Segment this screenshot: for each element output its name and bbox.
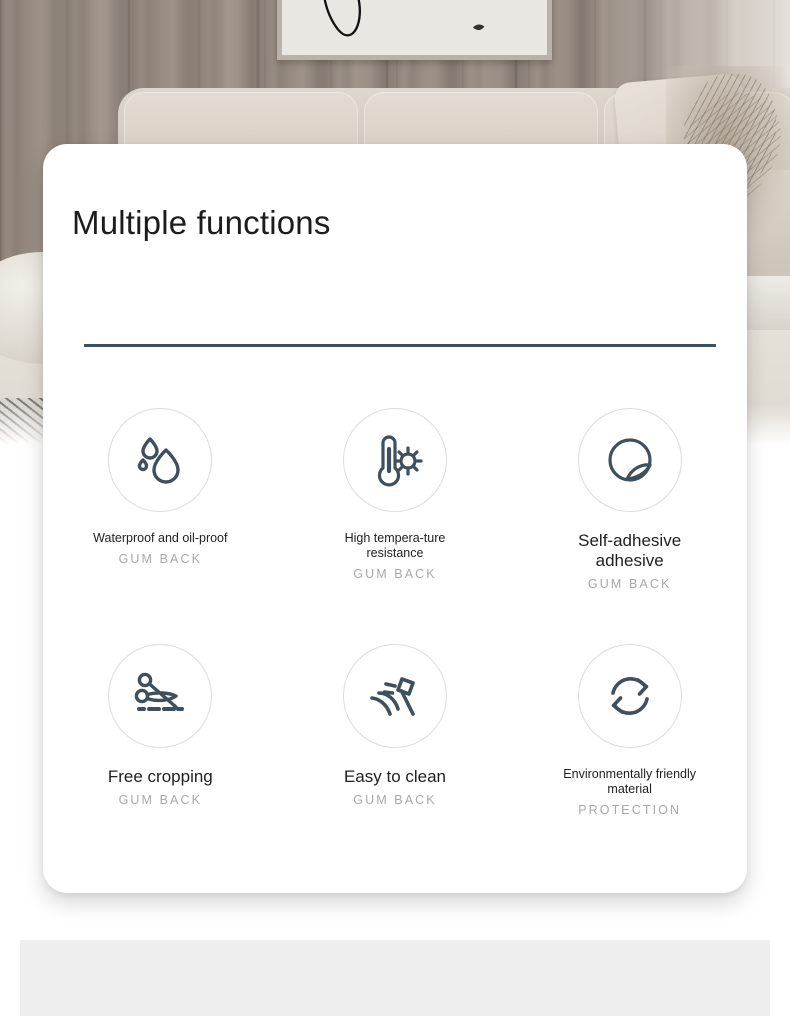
page-title: Multiple functions	[72, 204, 331, 242]
self-adhesive-peel-icon	[578, 408, 682, 512]
feature-sublabel: PROTECTION	[578, 803, 681, 817]
feature-sublabel: GUM BACK	[119, 552, 202, 566]
feature-grid: Waterproof and oil-proof GUM BACK	[43, 408, 747, 817]
feature-sublabel: GUM BACK	[119, 793, 202, 807]
feature-item[interactable]: Self-adhesive adhesive GUM BACK	[512, 408, 747, 591]
feature-item[interactable]: Easy to clean GUM BACK	[278, 644, 513, 817]
water-drops-icon	[108, 408, 212, 512]
feature-sublabel: GUM BACK	[353, 567, 436, 581]
feature-label: Self-adhesive adhesive	[550, 531, 710, 571]
feature-sublabel: GUM BACK	[588, 577, 671, 591]
framed-line-art	[277, 0, 552, 60]
feature-item[interactable]: Waterproof and oil-proof GUM BACK	[43, 408, 278, 591]
feature-label: Environmentally friendly material	[550, 767, 710, 797]
feature-label: Free cropping	[108, 767, 213, 787]
feature-sublabel: GUM BACK	[353, 793, 436, 807]
feature-card: Multiple functions Waterproof and oil-pr…	[43, 144, 747, 893]
feature-item[interactable]: Environmentally friendly material PROTEC…	[512, 644, 747, 817]
thermometer-sun-icon	[343, 408, 447, 512]
cleaning-wipe-icon	[343, 644, 447, 748]
title-divider	[84, 344, 716, 347]
scissors-cut-icon	[108, 644, 212, 748]
feature-item[interactable]: High tempera-ture resistance GUM BACK	[278, 408, 513, 591]
feature-label: Easy to clean	[344, 767, 446, 787]
bottom-section-block	[20, 940, 770, 1016]
feature-label: High tempera-ture resistance	[315, 531, 475, 561]
recycle-arrows-icon	[578, 644, 682, 748]
feature-item[interactable]: Free cropping GUM BACK	[43, 644, 278, 817]
feature-label: Waterproof and oil-proof	[93, 531, 227, 546]
